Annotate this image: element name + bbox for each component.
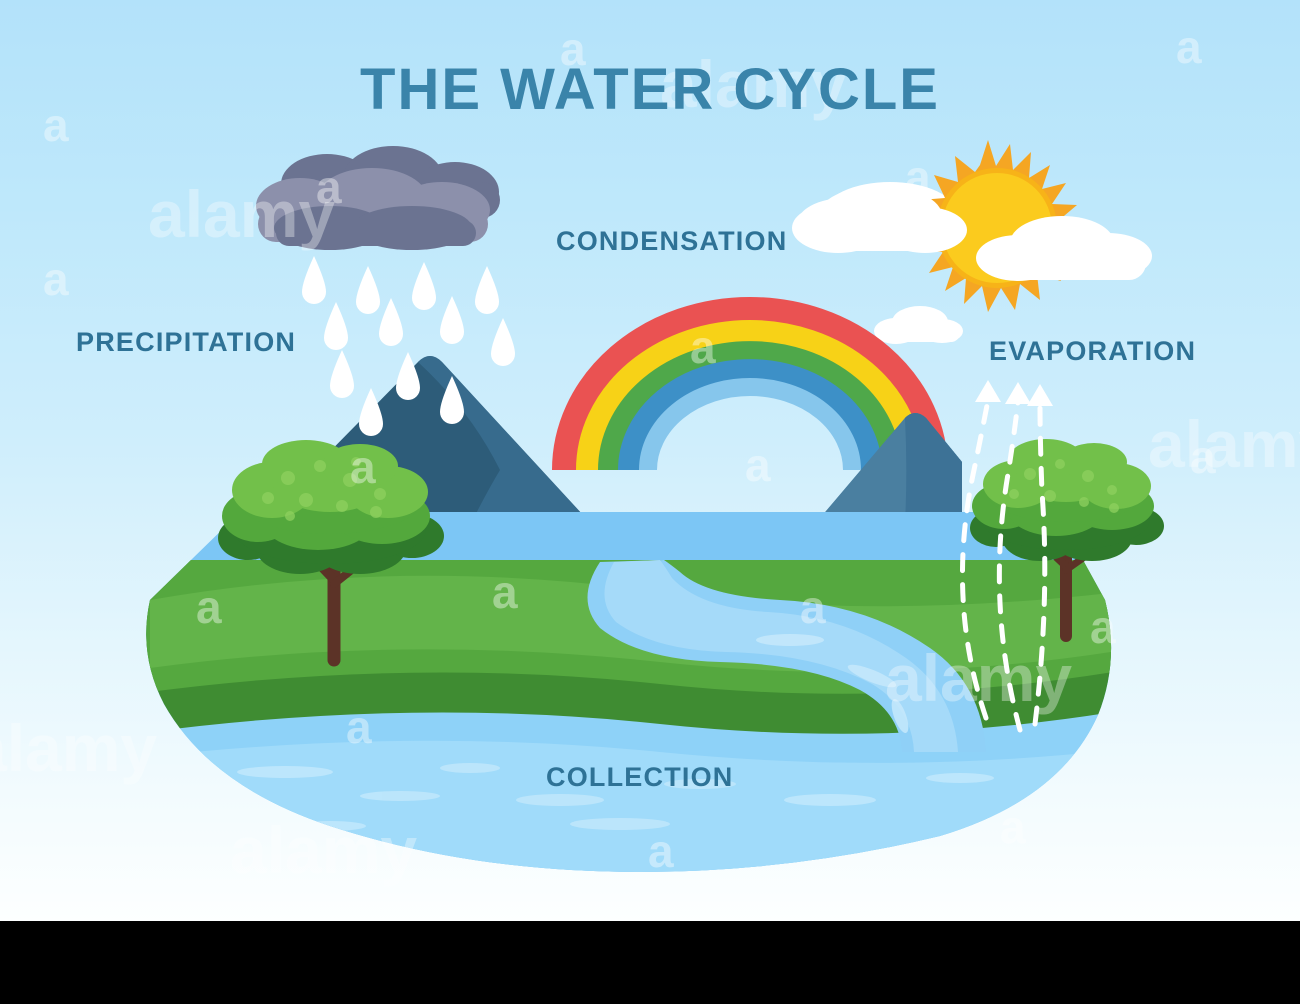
evaporation-arrow-icon — [975, 380, 1053, 406]
page-title: THE WATER CYCLE — [0, 56, 1300, 123]
water-cycle-illustration: aaaalamyaaalamyaaaaaalamyaaaaalamyaalamy… — [0, 0, 1300, 921]
rain-cloud-icon — [256, 146, 500, 250]
label-condensation: CONDENSATION — [556, 226, 787, 257]
label-evaporation: EVAPORATION — [989, 336, 1196, 367]
white-cloud-icon — [874, 306, 963, 344]
screenshot-root: aaaalamyaaalamyaaaaaalamyaaaaalamyaalamy… — [0, 0, 1300, 1004]
label-collection: COLLECTION — [546, 762, 734, 793]
stock-photo-footer: alamy Image ID: 2PT94P0 www.alamy.com — [0, 921, 1300, 1004]
label-precipitation: PRECIPITATION — [76, 327, 296, 358]
